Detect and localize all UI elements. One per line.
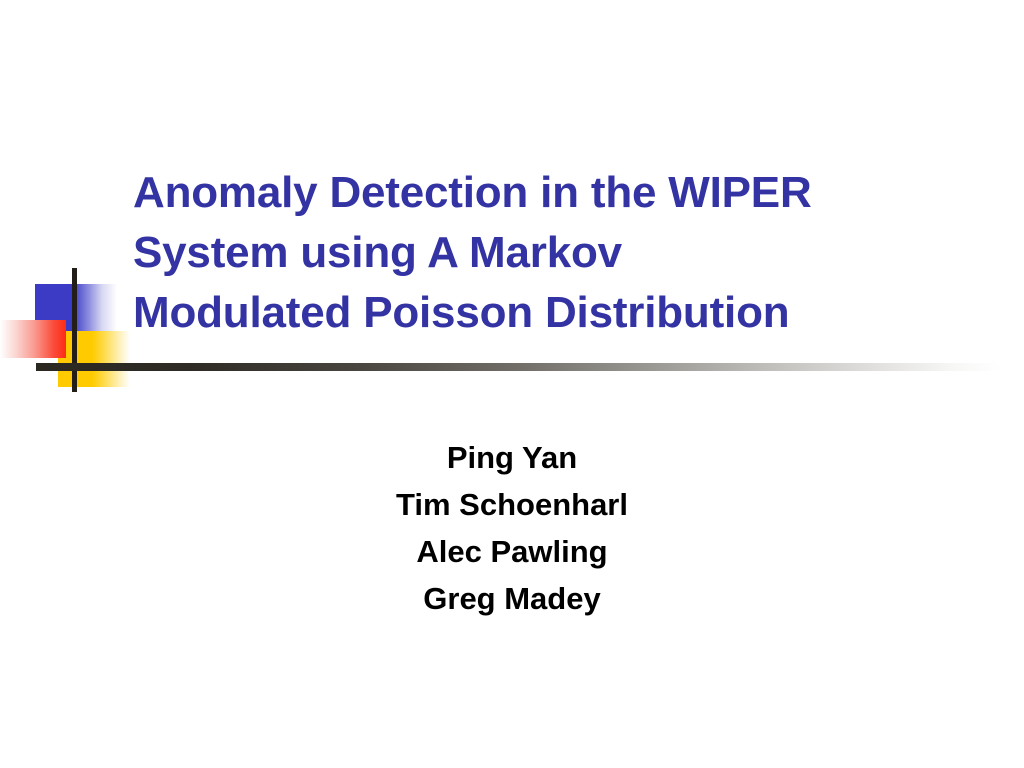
yellow-square-icon	[58, 331, 130, 387]
title-line-2: System using A Markov	[133, 223, 963, 283]
horizontal-rule-divider	[36, 363, 1001, 371]
author-list: Ping Yan Tim Schoenharl Alec Pawling Gre…	[0, 434, 1024, 622]
title-line-1: Anomaly Detection in the WIPER	[133, 163, 963, 223]
vertical-rule-divider	[72, 268, 77, 392]
slide-title: Anomaly Detection in the WIPER System us…	[133, 163, 963, 343]
author-name-1: Ping Yan	[0, 434, 1024, 481]
blue-square-icon	[35, 284, 117, 331]
title-line-3: Modulated Poisson Distribution	[133, 283, 963, 343]
author-name-2: Tim Schoenharl	[0, 481, 1024, 528]
red-rectangle-icon	[0, 320, 66, 358]
author-name-3: Alec Pawling	[0, 528, 1024, 575]
presentation-slide: Anomaly Detection in the WIPER System us…	[0, 0, 1024, 768]
author-name-4: Greg Madey	[0, 575, 1024, 622]
